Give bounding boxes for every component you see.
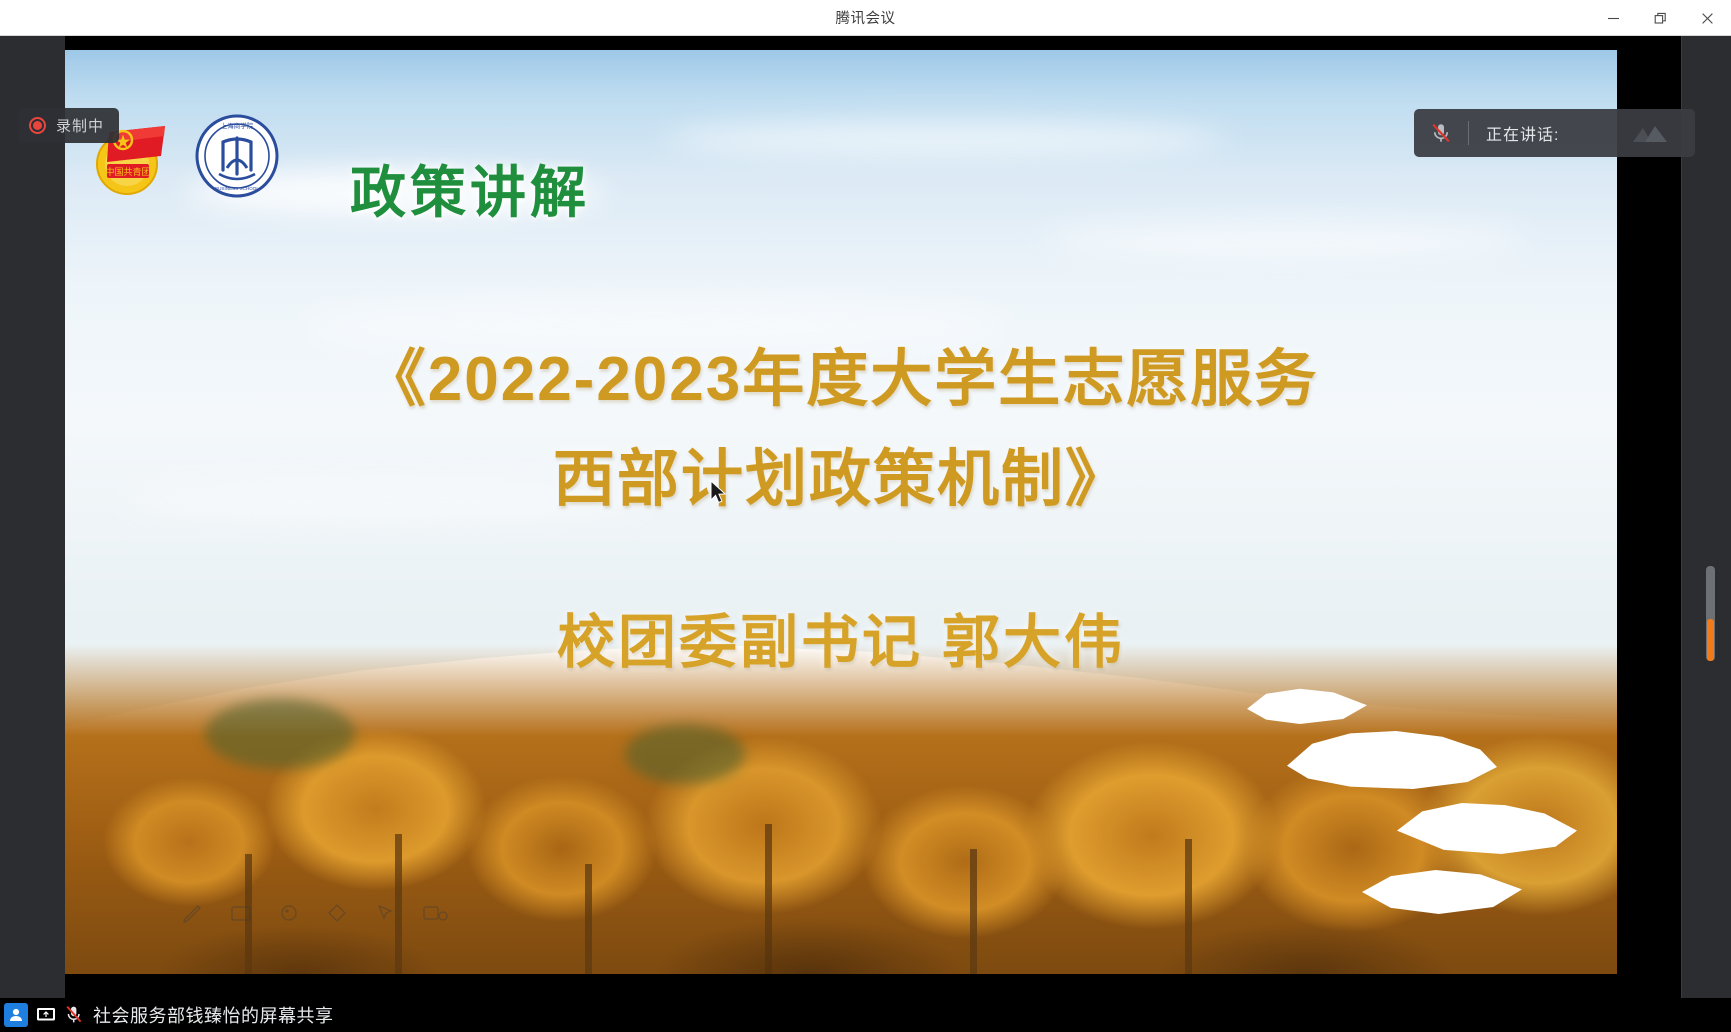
- arrow-icon[interactable]: [372, 900, 398, 926]
- window-title: 腾讯会议: [836, 7, 896, 28]
- pen-icon[interactable]: [180, 900, 206, 926]
- slide-presenter: 校团委副书记 郭大伟: [65, 595, 1617, 679]
- svg-text:BUSINESS SCHOOL: BUSINESS SCHOOL: [215, 186, 259, 191]
- vertical-scrollbar[interactable]: [1713, 36, 1723, 998]
- share-status-bar: 社会服务部钱臻怡的屏幕共享: [0, 998, 1731, 1032]
- window-controls: [1590, 0, 1731, 36]
- slide-title: 《2022-2023年度大学生志愿服务 西部计划政策机制》: [65, 330, 1617, 531]
- screen-icon[interactable]: [420, 900, 450, 926]
- meeting-body: 中国共青团 上海商学院 BUSINESS SCHOOL 政策: [0, 36, 1731, 1032]
- cloud: [1045, 220, 1525, 260]
- window-titlebar: 腾讯会议: [0, 0, 1731, 36]
- cloud: [665, 122, 1225, 156]
- share-status-label: 社会服务部钱臻怡的屏幕共享: [93, 1002, 334, 1028]
- tencent-meeting-logo-icon: [1617, 118, 1695, 148]
- svg-text:上海商学院: 上海商学院: [221, 121, 254, 130]
- green-foliage: [205, 699, 355, 769]
- shared-screen-stage[interactable]: 中国共青团 上海商学院 BUSINESS SCHOOL 政策: [65, 36, 1681, 998]
- svg-text:中国共青团: 中国共青团: [105, 166, 150, 177]
- mic-muted-icon: [64, 1004, 84, 1026]
- slide-icon[interactable]: [228, 900, 254, 926]
- presentation-slide[interactable]: 中国共青团 上海商学院 BUSINESS SCHOOL 政策: [65, 50, 1617, 974]
- left-rail: [0, 36, 65, 998]
- mouse-cursor: [710, 480, 727, 510]
- minimize-button[interactable]: [1590, 0, 1637, 36]
- highlighter-icon[interactable]: [324, 900, 350, 926]
- restore-button[interactable]: [1637, 0, 1684, 36]
- active-speaker-panel[interactable]: 正在讲话:: [1414, 109, 1695, 157]
- screen-share-icon: [35, 1005, 57, 1025]
- close-button[interactable]: [1684, 0, 1731, 36]
- recording-dot-icon: [29, 117, 46, 134]
- university-emblem-icon: 上海商学院 BUSINESS SCHOOL: [193, 112, 281, 200]
- right-rail: [1681, 36, 1731, 998]
- pointer-icon[interactable]: [276, 900, 302, 926]
- slide-title-line2: 西部计划政策机制》: [65, 430, 1617, 530]
- mic-muted-icon[interactable]: [1414, 121, 1468, 145]
- recording-label: 录制中: [56, 115, 104, 136]
- scrollbar-accent-marker: [1707, 619, 1714, 661]
- recording-badge[interactable]: 录制中: [18, 108, 119, 143]
- slide-title-line1: 《2022-2023年度大学生志愿服务: [364, 345, 1319, 414]
- participant-icon: [4, 1003, 28, 1027]
- ppt-annotation-toolbar[interactable]: [180, 900, 450, 926]
- active-speaker-label: 正在讲话:: [1469, 121, 1559, 145]
- slide-kicker: 政策讲解: [350, 148, 590, 229]
- green-foliage: [625, 724, 745, 784]
